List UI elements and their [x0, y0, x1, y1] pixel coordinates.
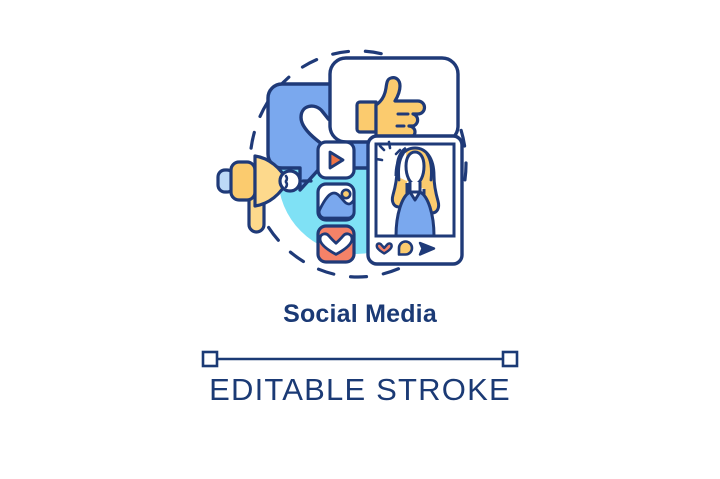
editable-stroke-divider — [0, 350, 720, 368]
concept-icon-page: Social Media EDITABLE STROKE — [0, 0, 720, 479]
video-play-tile — [318, 142, 354, 178]
page-title: Social Media — [0, 300, 720, 329]
woman-face — [406, 152, 424, 184]
social-media-concept-illustration — [0, 36, 720, 286]
editable-stroke-label: EDITABLE STROKE — [0, 372, 720, 408]
heart-tile — [318, 226, 354, 262]
thumbs-up-icon — [357, 102, 376, 132]
post-comment-icon[interactable] — [399, 242, 412, 255]
photo-post-frame — [368, 136, 462, 264]
divider-handle-right[interactable] — [503, 352, 517, 366]
divider-handle-left[interactable] — [203, 352, 217, 366]
image-tile — [318, 184, 354, 220]
